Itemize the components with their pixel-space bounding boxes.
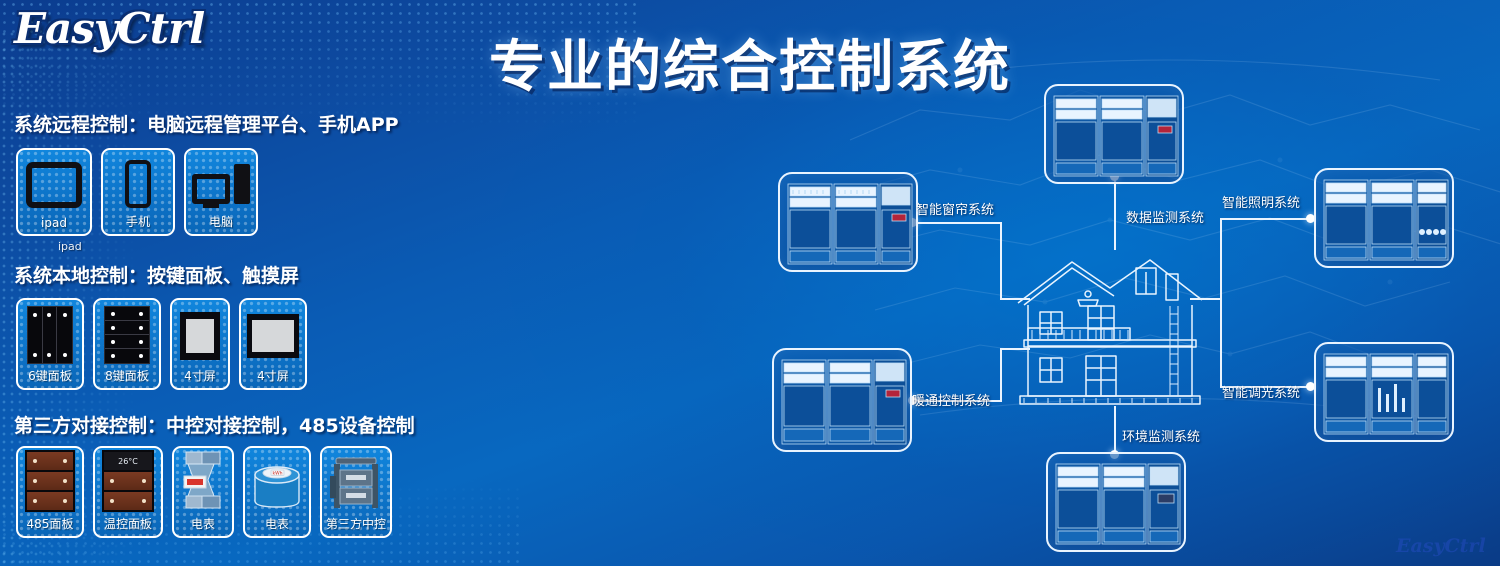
thermostat-panel-icon: 26°C — [99, 450, 157, 512]
six-key-panel-icon — [22, 306, 78, 364]
device-card-6key[interactable]: 6键面板 — [16, 298, 84, 390]
device-card-meter-round[interactable]: kWh 电表 — [243, 446, 311, 538]
diagram-label-curtain: 智能窗帘系统 — [916, 199, 994, 218]
connector-data-v — [1114, 176, 1116, 250]
device-label: 电脑 — [209, 213, 233, 230]
node-hvac-controller[interactable] — [772, 348, 912, 452]
rs485-panel-icon — [22, 450, 78, 512]
tablet-icon — [22, 157, 86, 213]
device-card-8key[interactable]: 8键面板 — [93, 298, 161, 390]
svg-text:kWh: kWh — [272, 470, 282, 476]
device-label: 8键面板 — [105, 367, 149, 384]
eight-key-panel-icon — [99, 306, 155, 364]
device-label: ipad — [41, 216, 67, 230]
device-card-meter-breaker[interactable]: 电表 — [172, 446, 234, 538]
connector-curtain-v — [1000, 222, 1002, 300]
watermark-logo: EasyCtrl — [1392, 528, 1488, 560]
device-label: 4寸屏 — [257, 367, 289, 384]
four-inch-screen-wide-icon — [245, 307, 301, 364]
device-card-phone[interactable]: 手机 — [101, 148, 175, 236]
page-title: 专业的综合控制系统 — [470, 22, 1030, 103]
device-row-remote: ipad 手机 电脑 — [16, 148, 258, 236]
device-label: 电表 — [191, 515, 215, 532]
diagram-label-dimming: 智能调光系统 — [1222, 382, 1300, 401]
din-rail-controller-icon — [1048, 454, 1186, 552]
din-rail-controller-icon — [1046, 86, 1184, 184]
two-story-house-icon — [1010, 248, 1210, 408]
node-curtain-controller[interactable] — [778, 172, 918, 272]
device-card-screen-4in-a[interactable]: 4寸屏 — [170, 298, 230, 390]
connector-hvac-v — [1000, 348, 1002, 402]
connector-lighting-h — [1220, 218, 1310, 220]
node-lighting-controller[interactable] — [1314, 168, 1454, 268]
connector-right-trunk — [1220, 218, 1222, 388]
device-row-thirdparty: 485面板 26°C 温控面板 — [16, 446, 392, 538]
device-label: 485面板 — [27, 515, 74, 532]
phone-icon — [107, 157, 169, 210]
watermark-text: EasyCtrl — [1395, 535, 1486, 557]
electric-meter-breaker-icon — [178, 450, 228, 512]
din-rail-controller-icon — [780, 174, 918, 272]
four-inch-screen-icon — [176, 307, 224, 364]
diagram-label-hvac: 暖通控制系统 — [912, 390, 990, 409]
device-label: 手机 — [126, 213, 150, 230]
diagram-label-lighting: 智能照明系统 — [1222, 192, 1300, 211]
device-card-third-party-controller[interactable]: 第三方中控 — [320, 446, 392, 538]
device-card-computer[interactable]: 电脑 — [184, 148, 258, 236]
poster-canvas: EasyCtrl 专业的综合控制系统 系统远程控制：电脑远程管理平台、手机APP… — [0, 0, 1500, 566]
section-heading-remote: 系统远程控制：电脑远程管理平台、手机APP — [14, 110, 399, 137]
din-rail-controller-icon — [1316, 344, 1454, 442]
din-rail-controller-icon — [1316, 170, 1454, 268]
node-data-monitoring-controller[interactable] — [1044, 84, 1184, 184]
device-label: 温控面板 — [104, 515, 152, 532]
device-label: 4寸屏 — [184, 367, 216, 384]
device-card-screen-4in-b[interactable]: 4寸屏 — [239, 298, 307, 390]
device-label: 第三方中控 — [326, 515, 386, 532]
device-card-ipad[interactable]: ipad — [16, 148, 92, 236]
device-label: 电表 — [265, 515, 289, 532]
node-dimming-controller[interactable] — [1314, 342, 1454, 442]
third-party-controller-icon — [326, 454, 386, 512]
brand-logo: EasyCtrl — [14, 4, 204, 53]
node-environment-controller[interactable] — [1046, 452, 1186, 552]
connector-curtain-h — [912, 222, 1002, 224]
diagram-label-data-monitoring: 数据监测系统 — [1126, 207, 1204, 226]
device-card-thermostat[interactable]: 26°C 温控面板 — [93, 446, 163, 538]
din-rail-controller-icon — [774, 350, 912, 452]
thermostat-display: 26°C — [104, 452, 152, 470]
section-heading-local: 系统本地控制：按键面板、触摸屏 — [14, 261, 299, 288]
ghost-label-ipad: ipad — [58, 240, 82, 253]
electric-meter-round-icon: kWh — [249, 455, 305, 512]
diagram-label-environment: 环境监测系统 — [1122, 426, 1200, 445]
section-heading-thirdparty: 第三方对接控制：中控对接控制，485设备控制 — [14, 411, 415, 438]
device-label: 6键面板 — [28, 367, 72, 384]
connector-env-v — [1114, 406, 1116, 454]
desktop-computer-icon — [190, 157, 252, 210]
device-card-485-panel[interactable]: 485面板 — [16, 446, 84, 538]
device-row-local: 6键面板 8键面板 4寸屏 4寸屏 — [16, 298, 307, 390]
